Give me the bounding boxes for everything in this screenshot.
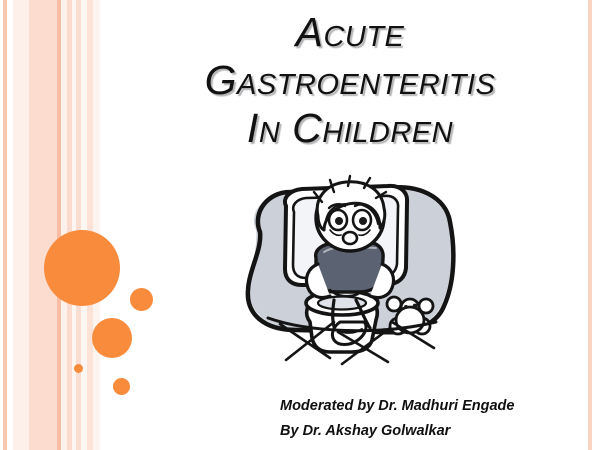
stripe-2 [13, 0, 29, 450]
stripe-1 [3, 0, 7, 450]
circle-small [130, 288, 153, 311]
title-line-2: Gastroenteritis [120, 56, 580, 104]
stripe-3 [29, 0, 57, 450]
stripe-11 [93, 0, 100, 450]
right-edge-stripe [588, 0, 592, 450]
slide-title: Acute Gastroenteritis In Children [120, 8, 580, 152]
circle-medium [92, 318, 132, 358]
child-on-toilet-illustration [238, 172, 466, 368]
circle-large [44, 230, 120, 306]
title-line-3: In Children [120, 104, 580, 152]
title-line-1: Acute [120, 8, 580, 56]
slide-credits: Moderated by Dr. Madhuri Engade By Dr. A… [280, 394, 580, 444]
credit-presenter: By Dr. Akshay Golwalkar [280, 419, 580, 444]
presentation-slide: Acute Gastroenteritis In Children [0, 0, 600, 450]
circle-tiny [113, 378, 130, 395]
circle-dot [74, 364, 83, 373]
child-on-toilet-icon [238, 172, 466, 368]
credit-moderator: Moderated by Dr. Madhuri Engade [280, 394, 580, 419]
